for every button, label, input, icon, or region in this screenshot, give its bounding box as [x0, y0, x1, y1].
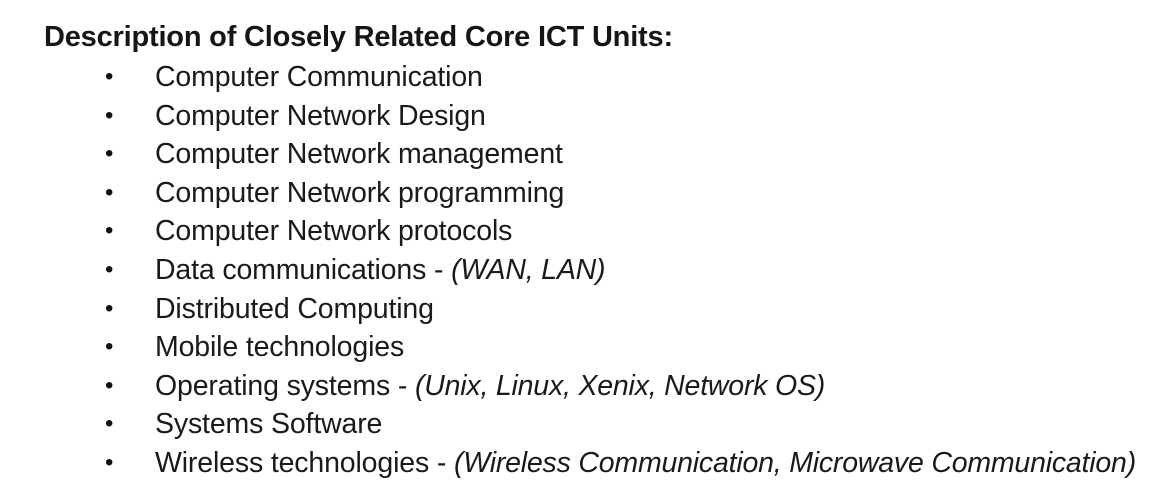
list-item-label: Computer Network protocols: [155, 215, 512, 247]
list-item-note: (Unix, Linux, Xenix, Network OS): [415, 370, 825, 402]
list-item-text: Computer Network protocols: [155, 212, 512, 251]
list-item-note: (Wireless Communication, Microwave Commu…: [454, 447, 1136, 479]
list-item: • Systems Software: [0, 405, 1171, 444]
list-item: • Operating systems - (Unix, Linux, Xeni…: [0, 367, 1171, 406]
list-item-text: Mobile technologies: [155, 328, 404, 367]
bullet-icon: •: [105, 212, 119, 251]
document-page: Description of Closely Related Core ICT …: [0, 0, 1171, 501]
core-ict-units-list: • Computer Communication • Computer Netw…: [0, 58, 1171, 483]
list-item-label: Distributed Computing: [155, 293, 434, 325]
bullet-icon: •: [105, 328, 119, 367]
list-item: • Wireless technologies - (Wireless Comm…: [0, 444, 1171, 483]
list-item-text: Computer Communication: [155, 58, 483, 97]
list-item-text: Operating systems - (Unix, Linux, Xenix,…: [155, 367, 825, 406]
list-item-label: Mobile technologies: [155, 331, 404, 363]
list-item-note: (WAN, LAN): [451, 254, 605, 286]
bullet-icon: •: [105, 58, 119, 97]
bullet-icon: •: [105, 174, 119, 213]
bullet-icon: •: [105, 405, 119, 444]
bullet-icon: •: [105, 135, 119, 174]
list-item-label: Wireless technologies: [155, 447, 429, 479]
list-item-label: Computer Network management: [155, 138, 563, 170]
list-item-separator: -: [429, 447, 454, 479]
list-item-separator: -: [426, 254, 451, 286]
list-item: • Distributed Computing: [0, 290, 1171, 329]
list-item: • Mobile technologies: [0, 328, 1171, 367]
list-item-text: Computer Network programming: [155, 174, 564, 213]
list-item: • Computer Network programming: [0, 174, 1171, 213]
list-item-text: Wireless technologies - (Wireless Commun…: [155, 444, 1136, 483]
list-item-label: Systems Software: [155, 408, 382, 440]
list-item: • Computer Network management: [0, 135, 1171, 174]
list-item-label: Operating systems: [155, 370, 390, 402]
list-item-label: Computer Network Design: [155, 100, 486, 132]
list-item-text: Computer Network management: [155, 135, 563, 174]
list-item-text: Distributed Computing: [155, 290, 434, 329]
list-item-separator: -: [390, 370, 415, 402]
bullet-icon: •: [105, 97, 119, 136]
list-item-text: Computer Network Design: [155, 97, 486, 136]
list-item-label: Computer Network programming: [155, 177, 564, 209]
list-item: • Computer Communication: [0, 58, 1171, 97]
bullet-icon: •: [105, 251, 119, 290]
bullet-icon: •: [105, 367, 119, 406]
list-item: • Data communications - (WAN, LAN): [0, 251, 1171, 290]
list-item-text: Data communications - (WAN, LAN): [155, 251, 605, 290]
list-item-label: Data communications: [155, 254, 426, 286]
page-title: Description of Closely Related Core ICT …: [44, 20, 673, 54]
bullet-icon: •: [105, 444, 119, 483]
bullet-icon: •: [105, 290, 119, 329]
list-item-label: Computer Communication: [155, 61, 483, 93]
list-item: • Computer Network protocols: [0, 212, 1171, 251]
list-item: • Computer Network Design: [0, 97, 1171, 136]
list-item-text: Systems Software: [155, 405, 382, 444]
